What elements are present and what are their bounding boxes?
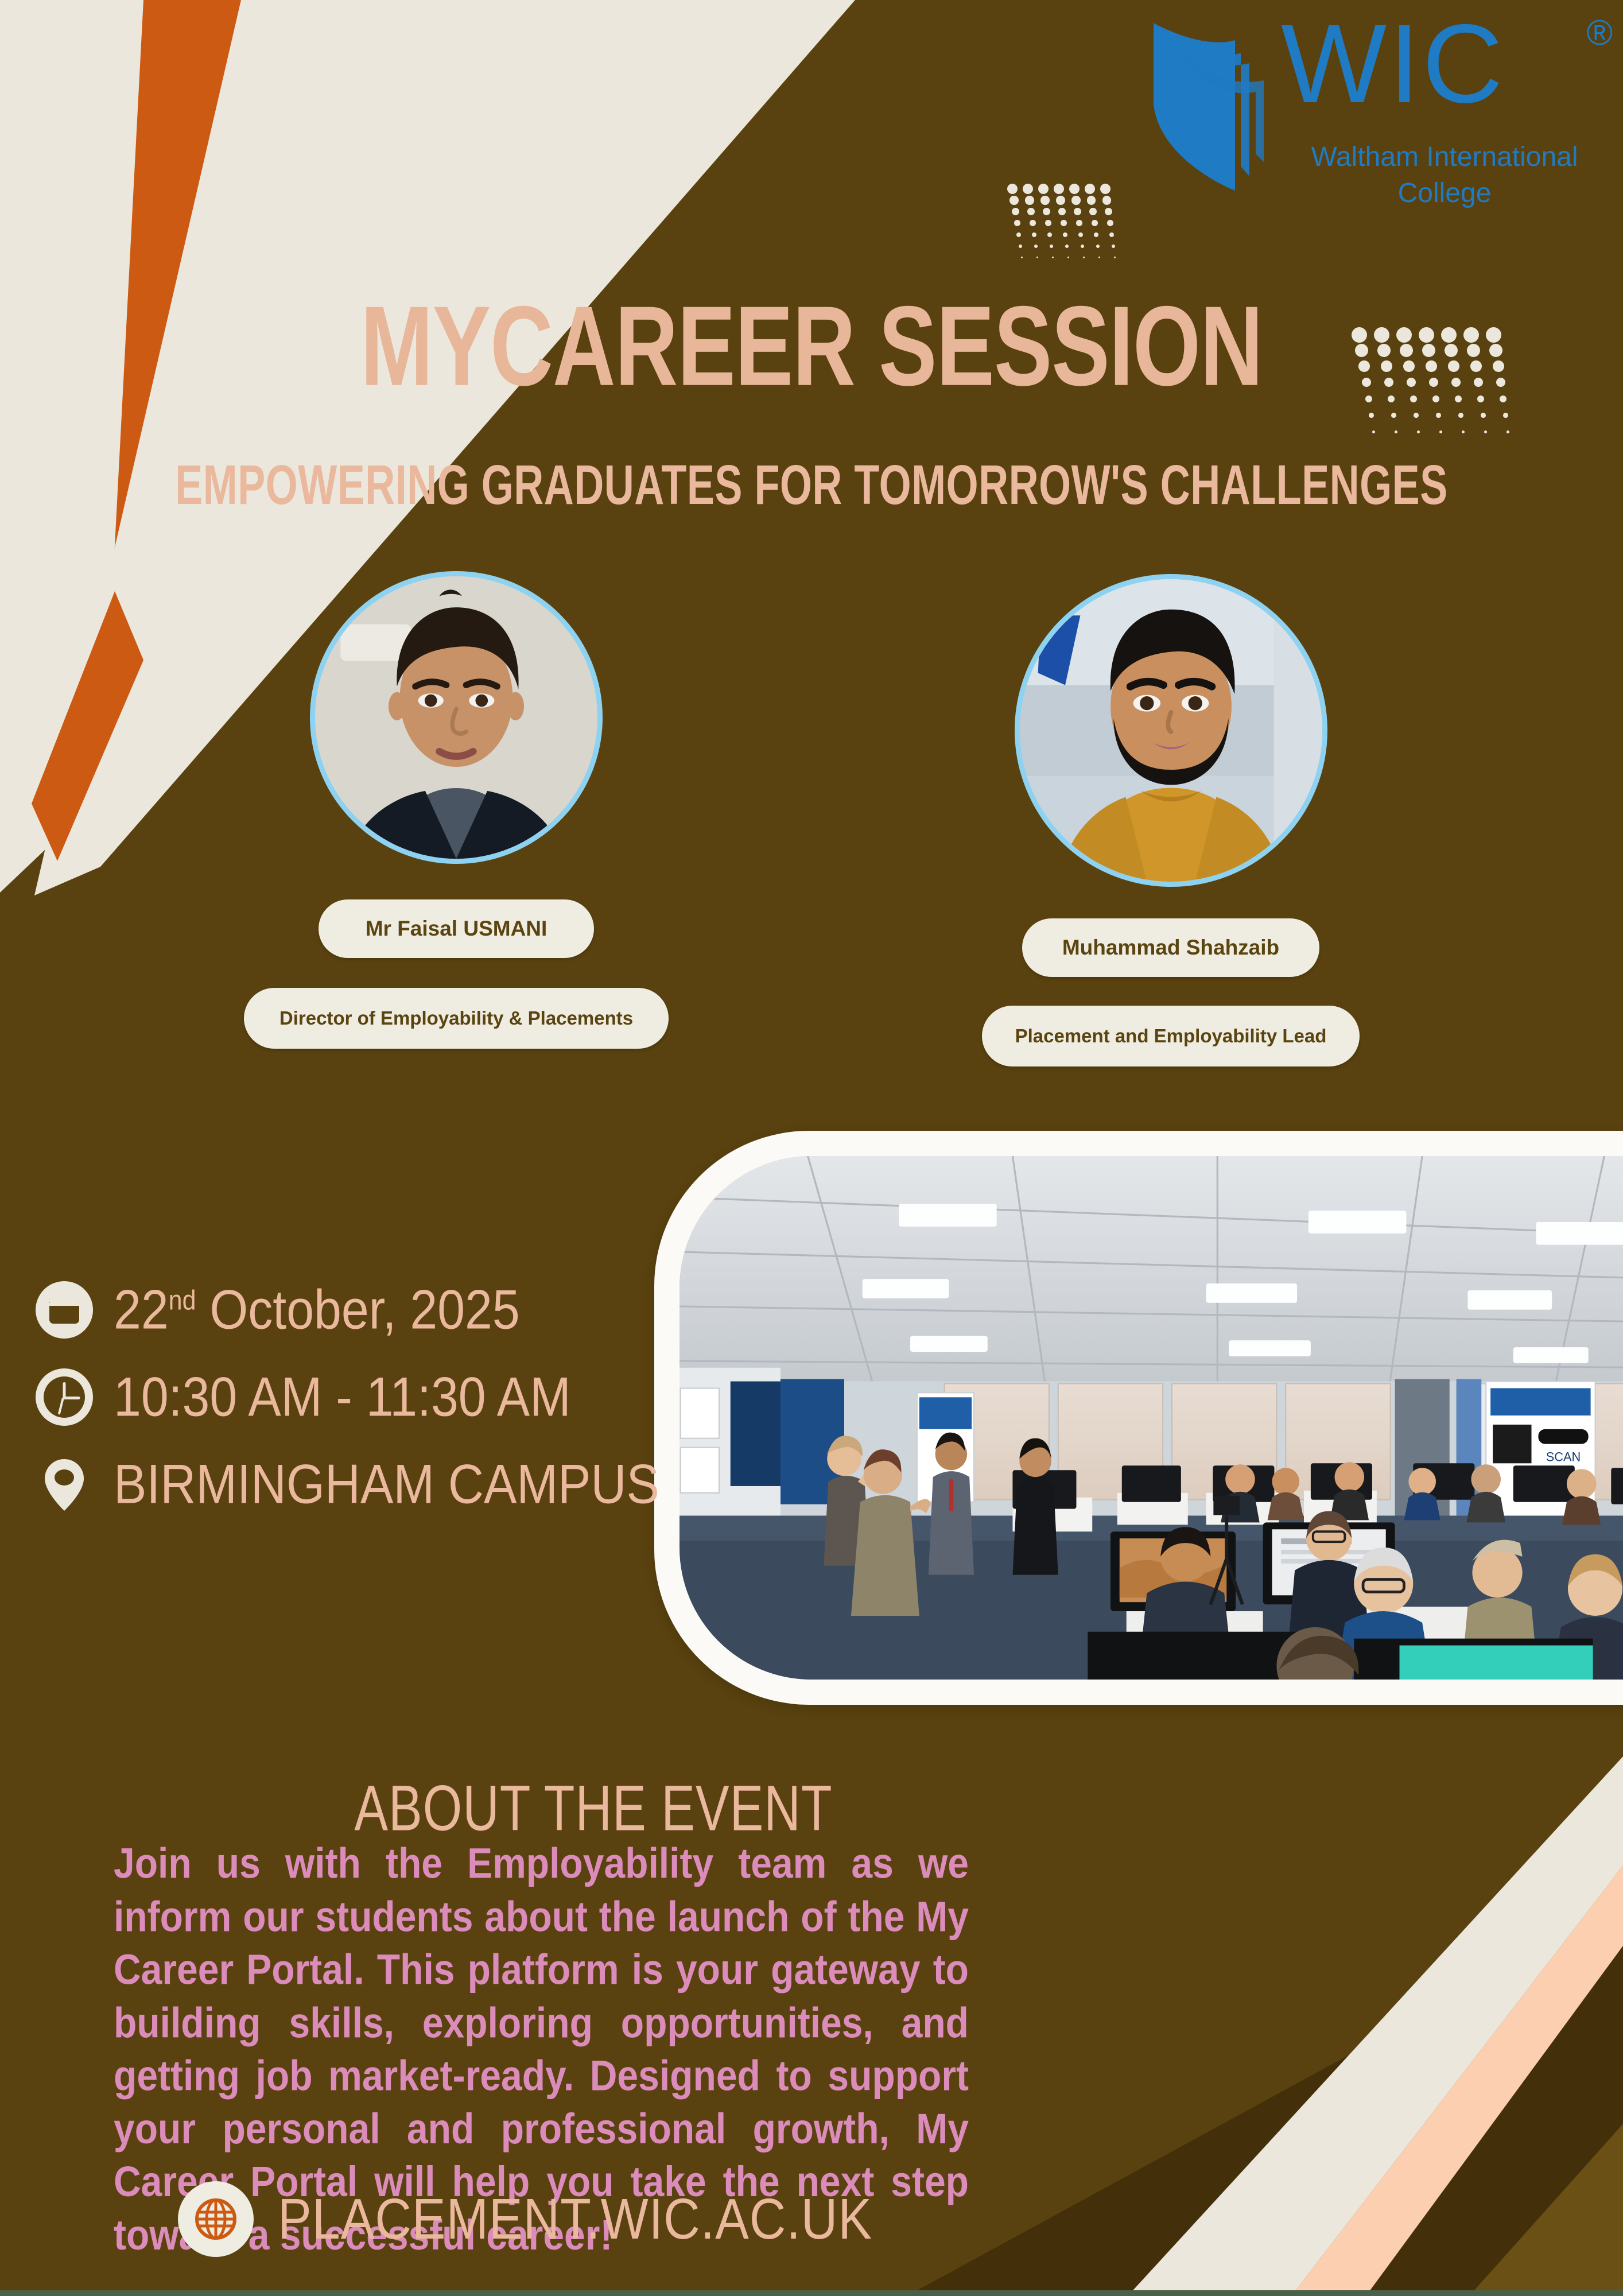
speaker-role: Director of Employability & Placements [244,988,669,1049]
dot [1503,413,1508,418]
dot [1114,257,1116,258]
dot [1007,184,1018,194]
computer-lab-classroom-photo: SCAN ME [680,1156,1623,1680]
detail-row-location: BIRMINGHAM CAMPUS [34,1455,659,1514]
dot [1076,220,1082,226]
speaker-portrait-muhammad-shahzaib [1020,579,1322,882]
dot [1021,257,1023,258]
dot [1023,184,1033,194]
registered-mark-icon: ® [1586,13,1613,53]
dot [1047,232,1052,237]
dot [1019,245,1022,248]
dot [1506,430,1509,433]
dot [1043,208,1050,215]
dot [1098,257,1100,258]
dot [1014,220,1020,226]
dot [1484,430,1487,433]
dot [1458,413,1463,418]
bottom-right-peach-stripe [1291,1865,1623,2296]
top-left-orange-tip [32,591,143,861]
dot [1439,430,1442,433]
dot [1417,430,1420,433]
speaker-card-1: Mr Faisal USMANI Director of Employabili… [238,571,674,1049]
dot-row [1019,241,1129,253]
detail-row-date: 22nd October, 2025 [34,1280,659,1340]
speaker-portrait-faisal-usmani [315,576,597,859]
dot-row [1021,253,1129,264]
dot [1012,208,1019,215]
event-photo: SCAN ME [680,1156,1623,1680]
bottom-rule [0,2290,1623,2296]
dot [1372,430,1375,433]
dot [1056,196,1065,205]
dot [1100,184,1111,194]
event-photo-frame: SCAN ME [654,1131,1623,1705]
speaker-role: Placement and Employability Lead [982,1006,1360,1066]
dot [1105,208,1112,215]
dot [1067,257,1069,258]
page-title: MYCAREER SESSION [0,281,1623,412]
dot [1089,208,1097,215]
page-subtitle: EMPOWERING GRADUATES FOR TOMORROW'S CHAL… [0,453,1623,517]
dot [1040,196,1050,205]
dot [1038,184,1049,194]
dot [1065,245,1069,248]
dot [1112,245,1115,248]
logo-subtitle-line2: College [1281,177,1608,209]
dot [1087,196,1096,205]
bottom-right-light-corner [1469,2124,1623,2296]
event-poster: WIC ® Waltham International College MYCA… [0,0,1623,2296]
dot-row [1016,230,1129,241]
dot [1009,196,1019,205]
dot [1069,184,1080,194]
dot [1045,220,1051,226]
dot [1081,245,1084,248]
svg-text:SCAN: SCAN [1546,1449,1581,1464]
dot [1034,245,1038,248]
dot [1025,196,1034,205]
dot [1094,232,1098,237]
dot [1052,257,1054,258]
dot [1107,220,1113,226]
dot [1078,232,1083,237]
dot-row [1014,218,1129,230]
about-heading: ABOUT THE EVENT [0,1771,1623,1846]
dot [1063,232,1067,237]
dot [1395,430,1397,433]
dot [1109,232,1114,237]
dot [1027,208,1035,215]
speaker-name: Muhammad Shahzaib [1022,918,1319,977]
detail-row-time: 10:30 AM - 11:30 AM [34,1367,659,1427]
dot [1074,208,1081,215]
dot [1102,196,1112,205]
dot [1032,232,1036,237]
halftone-dot-grid-small [1007,184,1129,264]
dot [1414,413,1419,418]
dot [1436,413,1441,418]
dot [1092,220,1098,226]
logo-subtitle-line1: Waltham International [1281,141,1608,173]
avatar [310,571,603,864]
dot [1058,208,1066,215]
dot [1083,257,1085,258]
dot [1016,232,1021,237]
dot [1061,220,1067,226]
speaker-name: Mr Faisal USMANI [319,899,595,958]
footer-url[interactable]: PLACEMENT.WIC.AC.UK [278,2186,872,2252]
speaker-card-2: Muhammad Shahzaib Placement and Employab… [953,574,1389,1066]
dot-row [1372,427,1529,444]
dot [1071,196,1081,205]
dot [1030,220,1036,226]
footer[interactable]: PLACEMENT.WIC.AC.UK [178,2181,872,2257]
clock-icon [34,1367,94,1427]
dot [1054,184,1064,194]
dot [1050,245,1053,248]
dot [1462,430,1465,433]
dot [1391,413,1396,418]
calendar-icon [34,1280,94,1340]
event-time: 10:30 AM - 11:30 AM [114,1370,571,1425]
dot [1085,184,1095,194]
dot [1096,245,1100,248]
wic-shield-icon [1149,18,1272,191]
dot-row [1009,195,1129,207]
event-date: 22nd October, 2025 [114,1282,520,1337]
dot-row [1012,207,1129,218]
location-pin-icon [34,1455,94,1514]
dot [1481,413,1486,418]
dot [1036,257,1038,258]
globe-icon [178,2181,254,2257]
dot [1369,413,1374,418]
dot-row [1369,410,1529,427]
avatar [1015,574,1327,887]
event-location: BIRMINGHAM CAMPUS [114,1457,659,1512]
wic-logo: WIC ® Waltham International College [1149,8,1608,209]
event-details: 22nd October, 2025 10:30 AM - 11:30 AM [34,1280,659,1542]
bottom-right-dark-wedge [907,1906,1623,2296]
dot-row [1007,184,1129,195]
wic-wordmark: WIC [1281,8,1505,120]
